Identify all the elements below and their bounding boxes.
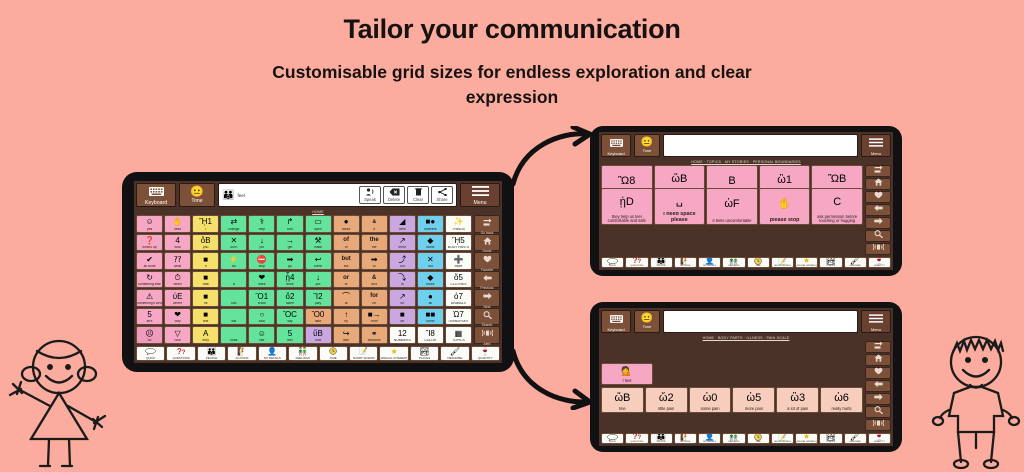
menu-button[interactable]: Menu	[861, 310, 891, 333]
people-icon: 👪	[656, 257, 666, 265]
grid-cell[interactable]: ■off	[389, 308, 416, 326]
keyboard-button[interactable]: Keyboard	[601, 310, 631, 333]
category-feelings[interactable]: 👬FEELINGS	[722, 433, 745, 444]
category-label: MY DETAILS	[703, 265, 716, 268]
cell-label: get	[277, 246, 302, 250]
phone-top-grid-wrap: Ὣ8personal boundariesὤBit's okay to say …	[601, 165, 863, 255]
grid-cell[interactable]: ὀ7ANIMALS	[445, 289, 472, 307]
cell-label: feel	[277, 339, 302, 343]
category-special-interest[interactable]: ★SPECIAL INTEREST	[795, 257, 818, 268]
short-words-icon: 📝	[778, 257, 787, 265]
grid-cell[interactable]: can	[220, 289, 247, 307]
alert-icon	[482, 324, 493, 342]
grid-cell[interactable]: ὆4who	[164, 234, 191, 252]
category-label: QUESTIONS	[630, 265, 643, 268]
grid-cell[interactable]: ✔all done	[136, 252, 163, 270]
category-my-details[interactable]: 👤MY DETAILS	[698, 433, 721, 444]
category-quantity[interactable]: 🍷QUANTITY	[868, 433, 891, 444]
quantity-icon: 🍷	[480, 347, 490, 356]
category-special-interest[interactable]: ★SPECIAL INTEREST	[379, 346, 408, 361]
cell-label: that	[193, 283, 218, 287]
grid-cell[interactable]: ὢ3a lot of pain	[776, 387, 819, 413]
grid-cell[interactable]: ✕don't	[220, 234, 247, 252]
cell-symbol-icon: ὆C	[812, 189, 862, 215]
cell-symbol-icon: ↗	[390, 235, 415, 246]
cell-symbol-icon: ᾖ4	[277, 272, 302, 283]
cell-label: don't	[221, 246, 246, 250]
grid-cell[interactable]: will	[220, 308, 247, 326]
alert-icon	[873, 238, 884, 256]
grid-cell[interactable]: ◢here	[389, 215, 416, 233]
grid-cell[interactable]: ✨THINGS	[445, 215, 472, 233]
cell-label: and	[362, 283, 387, 287]
speak-button[interactable]: Speak	[359, 186, 381, 204]
category-my-details[interactable]: 👤MY DETAILS	[258, 346, 287, 361]
cell-label: because	[362, 339, 387, 343]
cell-symbol-icon: Ὡ7	[446, 309, 471, 320]
phone-top-category-bar: QUICK??QUESTIONS👪PEOPLE🧗ACTIONS👤MY DETAI…	[599, 257, 893, 270]
cell-label: different	[418, 228, 443, 232]
message-bar[interactable]: 👪 feel Speak Delete Clear	[218, 183, 457, 207]
tablet-screen: Keyboard 😐 Tone 👪 feel Speak	[134, 181, 502, 363]
category-quick[interactable]: QUICK	[136, 346, 165, 361]
message-bar[interactable]	[663, 134, 858, 157]
grid-cell[interactable]: ↩come	[305, 252, 332, 270]
category-label: SHORT WORDS	[353, 356, 375, 361]
cell-symbol-icon: Ἲ8	[418, 327, 443, 338]
page-subtitle: Customisable grid sizes for endless expl…	[262, 60, 762, 111]
grid-cell[interactable]: ᾝ1i	[192, 215, 219, 233]
cell-label: put	[249, 246, 274, 250]
grid-cell[interactable]: ὤ2little pain	[645, 387, 688, 413]
grid-cell[interactable]: Ὡ7TRANSPORT	[445, 308, 472, 326]
grid-cell[interactable]: ❤want	[248, 271, 275, 289]
category-people[interactable]: 👪PEOPLE	[197, 346, 226, 361]
grid-cell[interactable]: ὤBfine	[601, 387, 644, 413]
grid-cell[interactable]: ⏱when	[164, 271, 191, 289]
grid-cell[interactable]: ὆5feel	[276, 326, 303, 344]
category-quantity[interactable]: 🍷QUANTITY	[868, 257, 891, 268]
grid-cell[interactable]: ■→from	[361, 308, 388, 326]
my-details-icon: 👤	[267, 347, 277, 356]
grid-cell[interactable]: ᾛ5BODY PARTS	[445, 234, 472, 252]
category-short-words[interactable]: 📝SHORT WORDS	[349, 346, 378, 361]
cell-symbol-icon: ὡ6	[821, 388, 862, 407]
category-label: TIME	[756, 265, 761, 268]
grid-cell[interactable]: ☹no	[136, 326, 163, 344]
cell-label: NUMBERS	[390, 339, 415, 343]
sidebar-item-go-back[interactable]: Go back	[474, 215, 500, 233]
cell-symbol-icon: ✋	[165, 216, 190, 227]
grid-cell[interactable]: ὆5let's	[136, 308, 163, 326]
sidebar-item-previous[interactable]: Previous	[474, 271, 500, 289]
feel-cell[interactable]: 💁 I feel	[601, 363, 653, 385]
cell-symbol-icon: ▭	[306, 216, 331, 227]
grid-cell[interactable]: ■he	[192, 289, 219, 307]
cell-symbol-icon: ■	[390, 309, 415, 320]
cell-label: fine	[602, 407, 643, 412]
grid-cell[interactable]: ○look	[248, 308, 275, 326]
cell-label: those	[418, 283, 443, 287]
cell-symbol-icon: ⚒	[306, 235, 331, 246]
grid-cell[interactable]: ■■some	[417, 308, 444, 326]
cell-symbol-icon	[221, 327, 246, 338]
grid-cell[interactable]: ●about	[333, 215, 360, 233]
category-label: MY DETAILS	[264, 356, 281, 361]
category-time[interactable]: TIME	[747, 433, 770, 444]
grid-cell[interactable]: ▭open	[305, 215, 332, 233]
category-label: TIME	[756, 441, 761, 444]
cell-symbol-icon	[221, 272, 246, 283]
cell-symbol-icon	[221, 290, 246, 301]
tone-button[interactable]: 😐 Tone	[634, 310, 660, 333]
category-questions[interactable]: ??QUESTIONS	[166, 346, 195, 361]
grid-cell[interactable]: ❓what's up	[136, 234, 163, 252]
grid-cell[interactable]: ↗on	[389, 289, 416, 307]
cell-label: TRANSPORT	[446, 320, 471, 324]
clear-button[interactable]: Clear	[407, 186, 429, 204]
describe-icon: 🖌	[450, 347, 460, 356]
sidebar-item-search[interactable]: Search	[474, 308, 500, 326]
grid-cell[interactable]: ✕not	[417, 252, 444, 270]
grid-cell[interactable]: ↱turn	[276, 215, 303, 233]
cell-symbol-icon: ↻	[137, 272, 162, 283]
cell-symbol-icon: ↓	[249, 235, 274, 246]
speech-bubble-icon	[607, 258, 618, 265]
grid-cell[interactable]: ofof	[333, 234, 360, 252]
grid-cell[interactable]: a	[220, 271, 247, 289]
grid-cell[interactable]: ◆same	[417, 234, 444, 252]
category-people[interactable]: 👪PEOPLE	[650, 257, 673, 268]
tone-label: Tone	[191, 199, 202, 204]
category-label: SPECIAL INTEREST	[796, 265, 817, 268]
keyboard-button[interactable]: Keyboard	[601, 134, 631, 157]
grid-cell[interactable]: Ἲ8COLOR	[417, 326, 444, 344]
cell-symbol-icon: ●	[334, 216, 359, 227]
grid-cell[interactable]: ◆those	[417, 271, 444, 289]
cell-label: they	[193, 339, 218, 343]
tablet-sidebar: Go backHomeFavoritePreviousNextSearchAle…	[474, 215, 500, 344]
cell-label: from	[362, 320, 387, 324]
cell-label: no	[137, 339, 162, 343]
cell-label: some pain	[690, 407, 731, 412]
grid-cell[interactable]: ὡFit feels uncomfortable	[706, 188, 758, 225]
cell-word: or	[334, 272, 359, 283]
star-icon: ★	[803, 257, 810, 265]
cell-label: something else	[137, 283, 162, 287]
category-actions[interactable]: 🧗ACTIONS	[674, 433, 697, 444]
grid-cell[interactable]: ↪with	[333, 326, 360, 344]
keyboard-icon	[610, 311, 623, 327]
cell-symbol-icon: ὅ5	[446, 272, 471, 283]
cell-label: in	[390, 283, 415, 287]
cell-symbol-icon: →	[277, 235, 302, 246]
grid-cell[interactable]: ↑by	[333, 308, 360, 326]
grid-cell[interactable]: ■that	[192, 271, 219, 289]
grid-cell[interactable]: ⚠something's wrong	[136, 289, 163, 307]
message-word: feel	[237, 193, 244, 198]
grid-cell[interactable]: oror	[333, 271, 360, 289]
feel-icon: 💁	[602, 364, 652, 379]
tablet-body: ☺yes✋helloᾝ1i⇄change⚕help↱turn▭open●abou…	[134, 215, 502, 346]
message-bar[interactable]	[663, 310, 858, 333]
sidebar-item-favorite[interactable]: Favorite	[474, 252, 500, 270]
category-quick[interactable]: QUICK	[601, 433, 624, 444]
category-short-words[interactable]: 📝SHORT WORDS	[771, 433, 794, 444]
grid-cell[interactable]: ➕more	[445, 252, 472, 270]
menu-label: Menu	[474, 201, 487, 206]
page-title: Tailor your communication	[0, 14, 1024, 45]
cell-symbol-icon: ᾛ5	[446, 235, 471, 246]
cell-symbol-icon: ὄB	[193, 235, 218, 246]
cell-symbol-icon: ὡF	[707, 189, 757, 219]
cell-symbol-icon: ■	[193, 290, 218, 301]
cell-label: at	[334, 302, 359, 306]
tone-label: Tone	[643, 325, 652, 329]
tone-label: Tone	[643, 149, 652, 153]
grid-cell[interactable]: ⇄change	[220, 215, 247, 233]
grid-cell[interactable]: ➡to	[361, 252, 388, 270]
share-button[interactable]: Share	[431, 186, 453, 204]
cell-label: let's	[137, 320, 162, 324]
cell-label: out	[390, 265, 415, 269]
category-special-interest[interactable]: ★SPECIAL INTEREST	[795, 433, 818, 444]
grid-cell[interactable]: ὄByou	[192, 234, 219, 252]
cell-symbol-icon: ➕	[446, 253, 471, 264]
grid-cell[interactable]: ●all	[417, 289, 444, 307]
grid-cell[interactable]: ᾑDthey help us feel comfortable and safe	[601, 188, 653, 225]
cell-label: but	[334, 265, 359, 269]
category-actions[interactable]: 🧗ACTIONS	[674, 257, 697, 268]
category-feelings[interactable]: 👬FEELINGS	[722, 257, 745, 268]
feel-label: I feel	[602, 379, 652, 384]
cell-symbol-icon: ○	[249, 309, 274, 320]
grid-cell[interactable]: ⤴out	[389, 252, 416, 270]
places-icon: 🏞	[826, 433, 836, 441]
category-label: FEELINGS	[728, 265, 739, 268]
speech-bubble-icon	[607, 434, 618, 441]
grid-cell[interactable]: shall	[220, 326, 247, 344]
cell-label: drink	[277, 283, 302, 287]
menu-button[interactable]: Menu	[460, 183, 500, 207]
cell-label: TOPICS	[446, 339, 471, 343]
grid-cell[interactable]: ■●different	[417, 215, 444, 233]
tablet-category-bar: QUICK??QUESTIONS👪PEOPLE🧗ACTIONS👤MY DETAI…	[134, 346, 502, 363]
grid-cell[interactable]: ὡ0some pain	[689, 387, 732, 413]
category-label: QUICK	[146, 356, 155, 361]
cell-symbol-icon: ☺	[137, 216, 162, 227]
cell-word: the	[362, 235, 387, 246]
category-questions[interactable]: ??QUESTIONS	[625, 433, 648, 444]
grid-cell[interactable]: ὄ2listen	[276, 289, 303, 307]
keyboard-label: Keyboard	[145, 201, 167, 206]
cell-symbol-icon: ὡ0	[690, 388, 731, 407]
feelings-icon: 👬	[729, 433, 739, 441]
grid-cell[interactable]: forfor	[361, 289, 388, 307]
category-people[interactable]: 👪PEOPLE	[650, 433, 673, 444]
sidebar-item-alert[interactable]: Alert	[865, 419, 891, 431]
cell-word: but	[334, 253, 359, 264]
cell-label: with	[334, 339, 359, 343]
grid-cell[interactable]: ⚕help	[248, 215, 275, 233]
stick-figure-boy	[930, 330, 1022, 472]
cell-label: go	[277, 265, 302, 269]
category-describe[interactable]: 🖌DESCRIBE	[844, 257, 867, 268]
cell-symbol-icon: ✕	[418, 253, 443, 264]
category-actions[interactable]: 🧗ACTIONS	[227, 346, 256, 361]
category-label: QUESTIONS	[630, 441, 643, 444]
grid-cell[interactable]: ↓put	[305, 271, 332, 289]
category-quantity[interactable]: 🍷QUANTITY	[471, 346, 500, 361]
poster-stage: Tailor your communication Customisable g…	[0, 0, 1024, 472]
grid-cell[interactable]: ■it	[192, 252, 219, 270]
cell-symbol-icon: ■→	[362, 309, 387, 320]
grid-cell[interactable]: ☺like	[248, 326, 275, 344]
category-describe[interactable]: 🖌DESCRIBE	[440, 346, 469, 361]
grid-cell[interactable]: ὆Cask permission before touching or hugg…	[811, 188, 863, 225]
sidebar-item-alert[interactable]: Alert	[865, 243, 891, 255]
phone-bottom-category-bar: QUICK??QUESTIONS👪PEOPLE🧗ACTIONS👤MY DETAI…	[599, 433, 893, 446]
grid-cell[interactable]: ✋hello	[164, 215, 191, 233]
category-feelings[interactable]: 👬FEELINGS	[288, 346, 317, 361]
menu-button[interactable]: Menu	[861, 134, 891, 157]
cell-symbol-icon: ᾑD	[602, 189, 652, 215]
question-marks-icon: ??	[633, 433, 642, 441]
category-time[interactable]: TIME	[319, 346, 348, 361]
category-my-details[interactable]: 👤MY DETAILS	[698, 257, 721, 268]
tone-icon: 😐	[190, 187, 204, 198]
cell-label: now	[306, 339, 331, 343]
category-label: QUANTITY	[874, 265, 885, 268]
grid-cell[interactable]: &and	[361, 271, 388, 289]
cell-label: all	[418, 302, 443, 306]
tone-button[interactable]: 😐 Tone	[179, 183, 215, 207]
alert-icon	[873, 414, 884, 432]
grid-cell[interactable]: ❤why	[164, 308, 191, 326]
cell-label: some	[418, 320, 443, 324]
cell-label: here	[390, 228, 415, 232]
grid-cell[interactable]: ᾖ4drink	[276, 271, 303, 289]
category-label: TIME	[330, 356, 337, 361]
grid-cell[interactable]: ↗there	[389, 234, 416, 252]
keyboard-button[interactable]: Keyboard	[136, 183, 176, 207]
cell-symbol-icon: ✕	[221, 235, 246, 246]
grid-cell[interactable]: ὕBnow	[305, 326, 332, 344]
question-marks-icon: ??	[633, 257, 642, 265]
cell-symbol-icon: ▦	[446, 327, 471, 338]
category-describe[interactable]: 🖌DESCRIBE	[844, 433, 867, 444]
cell-label: what's up	[137, 246, 162, 250]
grid-cell[interactable]: ὅ5CLOTHES	[445, 271, 472, 289]
grid-cell[interactable]: thethe	[361, 234, 388, 252]
category-questions[interactable]: ??QUESTIONS	[625, 257, 648, 268]
grid-cell[interactable]: 12NUMBERS	[389, 326, 416, 344]
grid-cell[interactable]: ␣i need space please	[654, 188, 706, 225]
cell-label: play	[306, 302, 331, 306]
cell-label: can	[221, 302, 246, 306]
sidebar-item-next[interactable]: Next	[474, 289, 500, 307]
category-label: SPECIAL INTEREST	[380, 356, 407, 361]
places-icon: 🏞	[419, 347, 429, 356]
grid-cell[interactable]: ὊCsay	[276, 308, 303, 326]
grid-cell[interactable]: ὐEwhere	[164, 289, 191, 307]
cell-label: on	[390, 302, 415, 306]
grid-cell[interactable]: ⌒at	[333, 289, 360, 307]
grid-cell[interactable]: ⤵in	[389, 271, 416, 289]
cell-label: why	[165, 320, 190, 324]
grid-cell[interactable]: ὡ6really hurts	[820, 387, 863, 413]
quantity-icon: 🍷	[874, 433, 884, 441]
cell-symbol-icon: 12	[390, 327, 415, 338]
cell-label: little pain	[646, 407, 687, 412]
cell-label: by	[334, 320, 359, 324]
grid-cell[interactable]: ὡ5more pain	[732, 387, 775, 413]
cell-label: to	[362, 265, 387, 269]
grid-cell[interactable]: ⚭because	[361, 326, 388, 344]
cell-label: same	[418, 246, 443, 250]
grid-cell[interactable]: ⛔stop	[248, 252, 275, 270]
pain-scale-grid: ὤBfineὤ2little painὡ0some painὡ5more pai…	[601, 387, 863, 408]
cell-symbol-icon: Ὂ1	[249, 290, 274, 301]
grid-cell[interactable]: ↓put	[248, 234, 275, 252]
category-places[interactable]: 🏞PLACES	[819, 257, 842, 268]
keyboard-icon	[149, 184, 164, 200]
sidebar-item-alert[interactable]: Alert	[474, 326, 500, 344]
grid-cell[interactable]: ✋please stop	[759, 188, 811, 225]
cell-symbol-icon: ↱	[277, 216, 302, 227]
category-label: FEELINGS	[728, 441, 739, 444]
tone-button[interactable]: 😐 Tone	[634, 134, 660, 157]
grid-cell[interactable]: ⚡do	[220, 252, 247, 270]
grid-cell[interactable]: ↻something else	[136, 271, 163, 289]
category-short-words[interactable]: 📝SHORT WORDS	[771, 257, 794, 268]
delete-button[interactable]: Delete	[383, 186, 405, 204]
cell-label: put	[306, 283, 331, 287]
grid-cell[interactable]: Ὂ1know	[248, 289, 275, 307]
short-words-icon: 📝	[778, 433, 787, 441]
sidebar-item-home[interactable]: Home	[474, 234, 500, 252]
category-places[interactable]: 🏞PLACES	[410, 346, 439, 361]
tone-icon: 😐	[641, 314, 653, 324]
category-time[interactable]: TIME	[747, 257, 770, 268]
phone-top-screen: Keyboard 😐 Tone Menu HOME · TOPICS ·	[599, 132, 893, 270]
grid-cell[interactable]: ὆Athey	[192, 326, 219, 344]
grid-cell[interactable]: ■she	[192, 308, 219, 326]
grid-cell[interactable]: Ἳ2play	[305, 289, 332, 307]
grid-cell[interactable]: butbut	[333, 252, 360, 270]
grid-cell[interactable]: ⚒make	[305, 234, 332, 252]
cell-symbol-icon: Ὃ0	[306, 309, 331, 320]
cell-label: ANIMALS	[446, 302, 471, 306]
category-places[interactable]: 🏞PLACES	[819, 433, 842, 444]
cell-symbol-icon: ❓	[137, 235, 162, 246]
cell-label: really hurts	[821, 407, 862, 412]
cell-label: he	[193, 302, 218, 306]
question-marks-icon: ??	[177, 347, 186, 356]
clear-label: Clear	[413, 197, 423, 202]
grid-cell[interactable]: ➡go	[276, 252, 303, 270]
grid-cell[interactable]: ▽how	[164, 326, 191, 344]
cell-label: come	[306, 265, 331, 269]
grid-cell[interactable]: ⁇what	[164, 252, 191, 270]
grid-cell[interactable]: Ὃ0take	[305, 308, 332, 326]
cell-label: listen	[277, 302, 302, 306]
grid-cell[interactable]: ▦TOPICS	[445, 326, 472, 344]
grid-cell[interactable]: ☺yes	[136, 215, 163, 233]
category-quick[interactable]: QUICK	[601, 257, 624, 268]
grid-cell[interactable]: →get	[276, 234, 303, 252]
grid-cell[interactable]: aa	[361, 215, 388, 233]
